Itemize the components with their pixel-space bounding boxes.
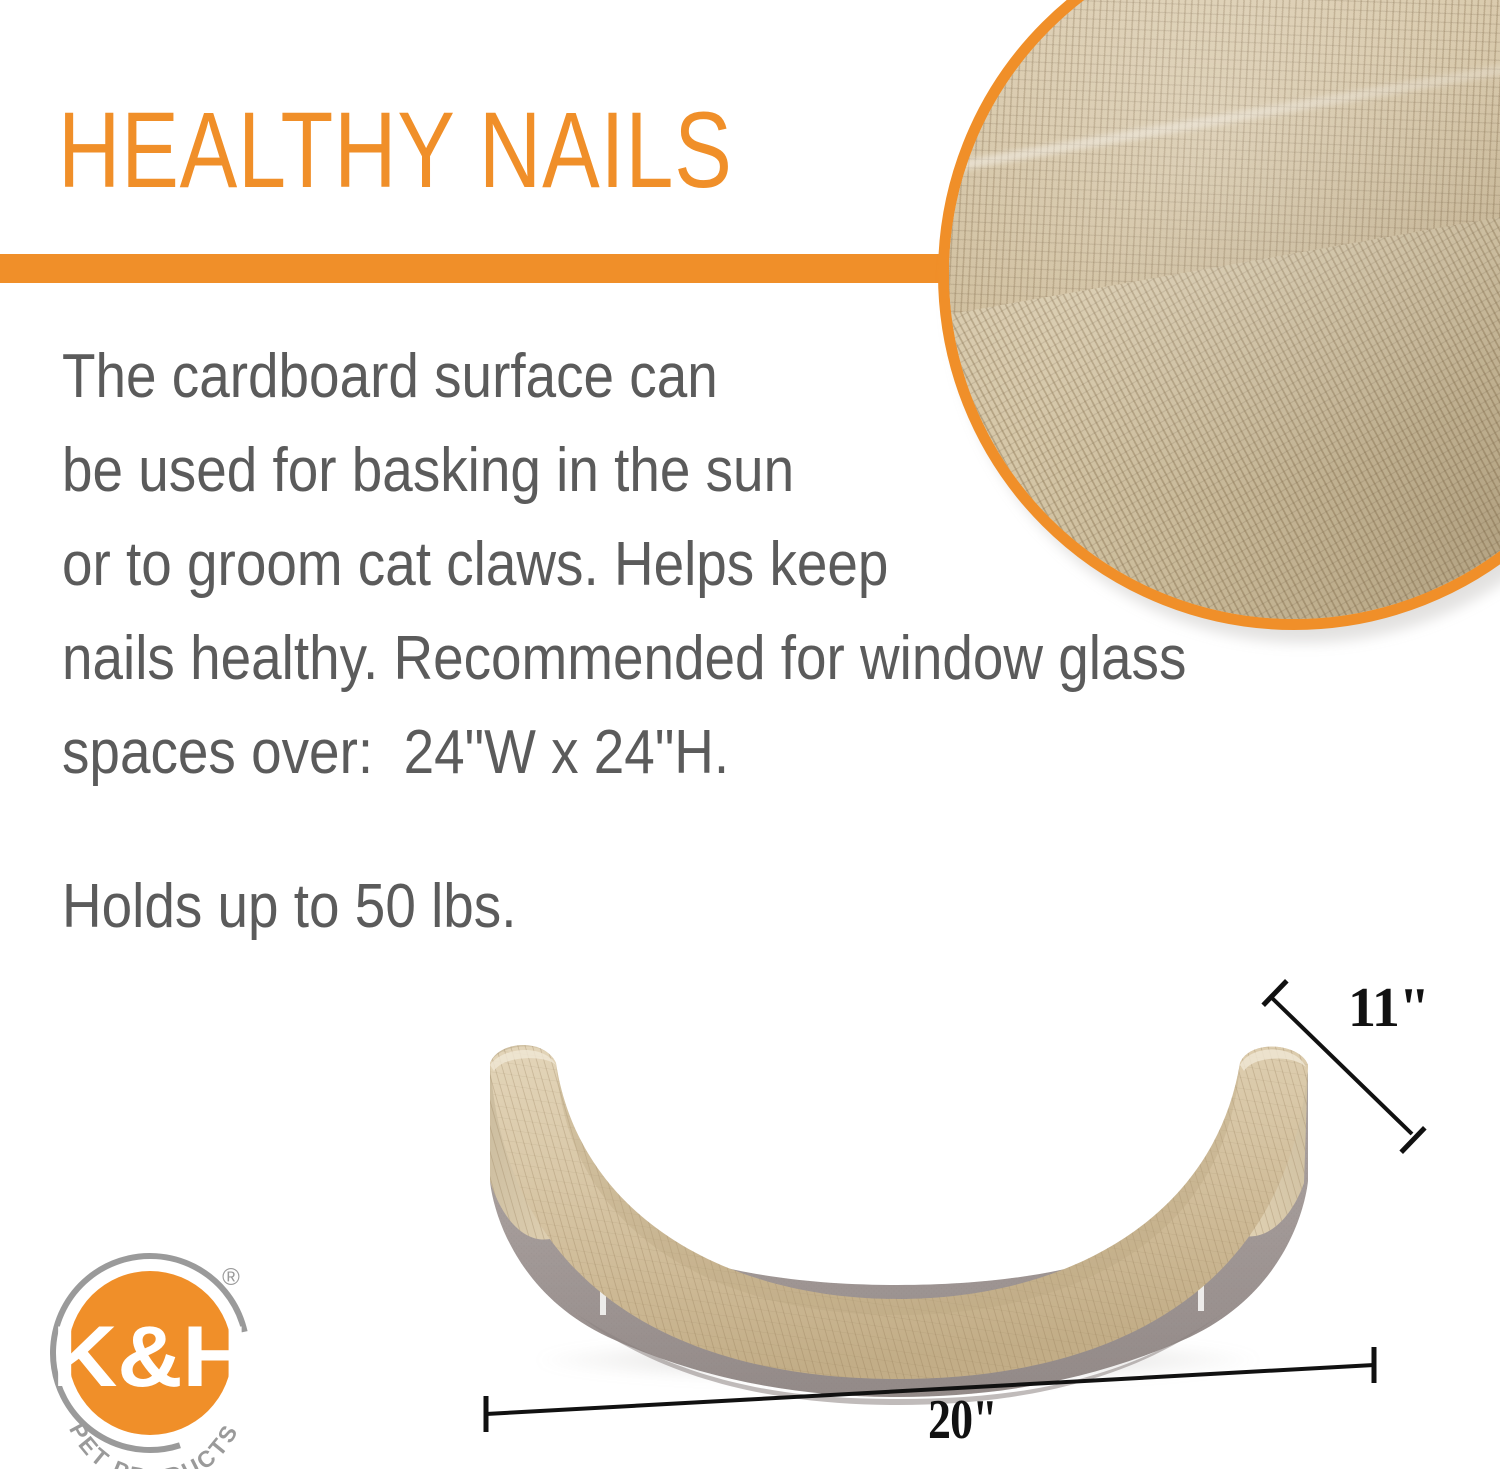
- kh-pet-products-logo: K&H ® PET PRODUCTS: [46, 1243, 262, 1469]
- description-paragraph: The cardboard surface can be used for ba…: [62, 330, 1301, 800]
- product-illustration: [428, 985, 1388, 1405]
- dimension-label-width: 20": [928, 1388, 997, 1452]
- product-feature-canvas: HEALTHY NAILS The cardboard surface can …: [0, 0, 1500, 1472]
- product-hero-image: [428, 985, 1388, 1405]
- page-title: HEALTHY NAILS: [58, 96, 733, 204]
- dimension-label-depth: 11": [1348, 976, 1429, 1040]
- logo-kh-text: K&H: [52, 1308, 248, 1405]
- dim-cap-depth-bottom: [1401, 1128, 1425, 1152]
- weight-capacity-paragraph: Holds up to 50 lbs.: [62, 860, 1301, 954]
- logo-registered-icon: ®: [222, 1264, 240, 1291]
- header-rule: [0, 254, 948, 283]
